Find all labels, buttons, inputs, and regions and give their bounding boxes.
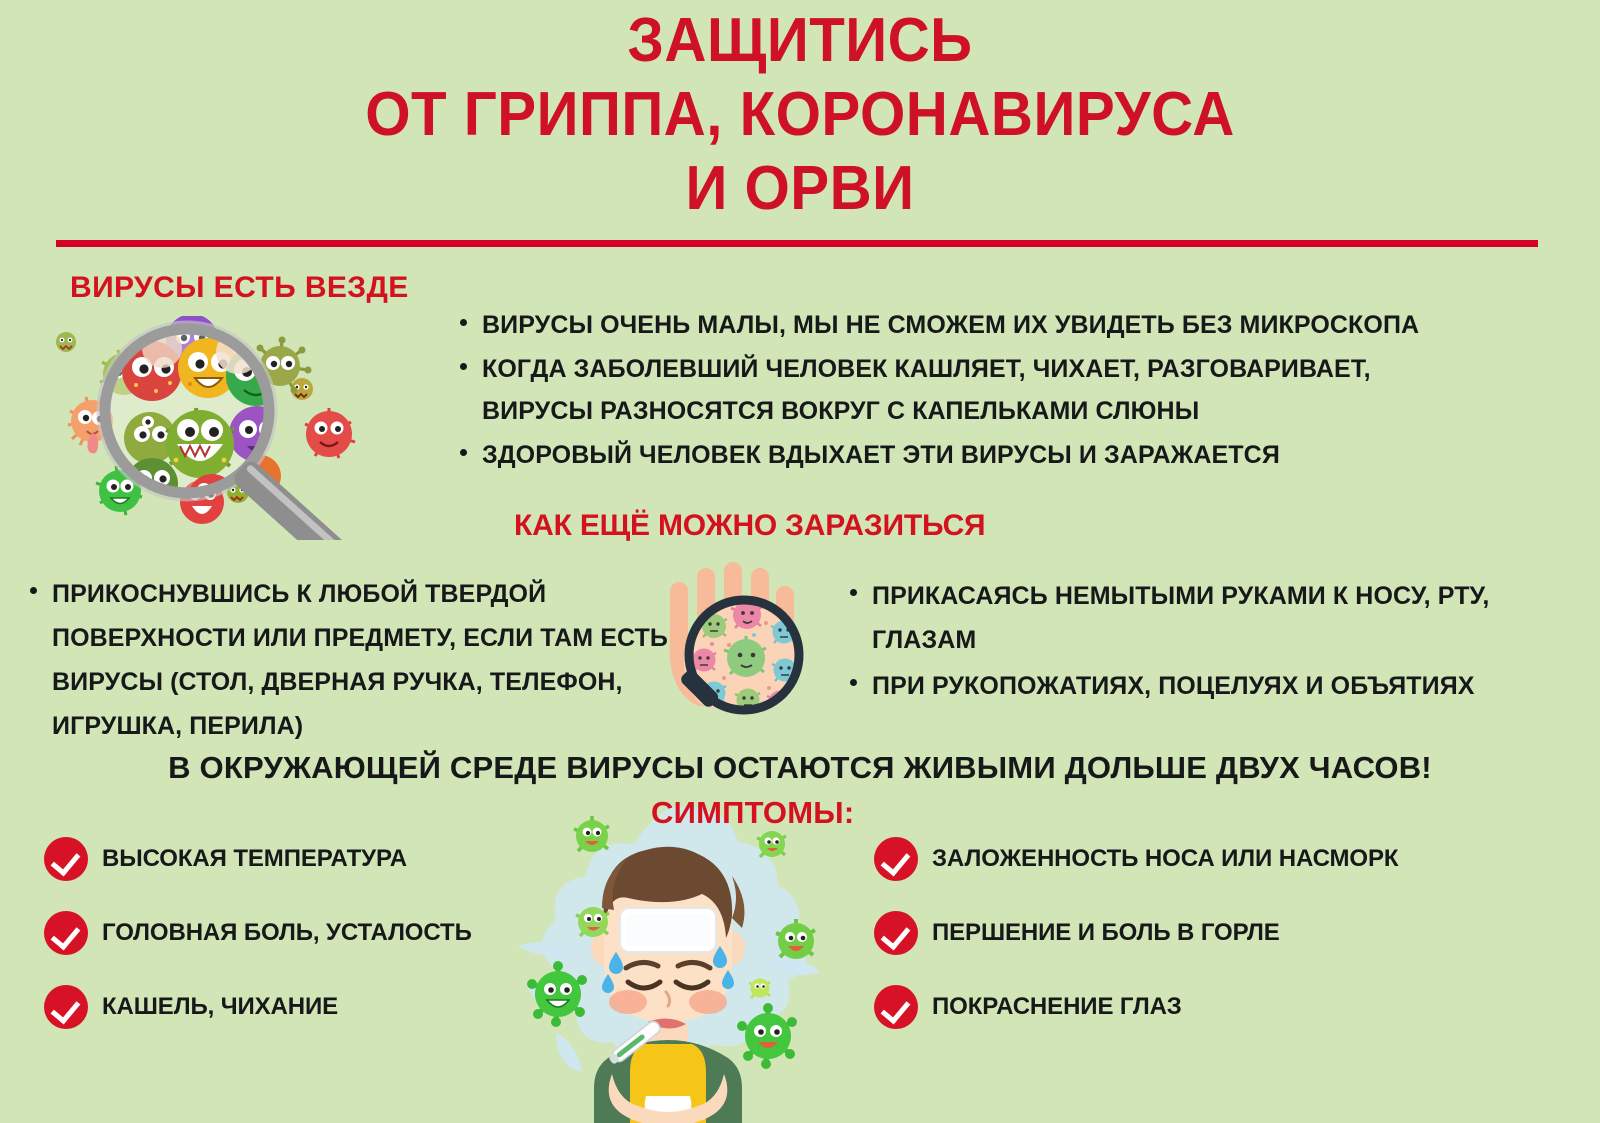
symptom-label: ПЕРШЕНИЕ И БОЛЬ В ГОРЛЕ bbox=[932, 919, 1280, 947]
list-item: ВИРУСЫ ОЧЕНЬ МАЛЫ, МЫ НЕ СМОЖЕМ ИХ УВИДЕ… bbox=[448, 304, 1419, 346]
sick-child-illustration bbox=[496, 796, 840, 1123]
symptom-label: ЗАЛОЖЕННОСТЬ НОСА ИЛИ НАСМОРК bbox=[932, 845, 1398, 873]
symptom-label: ПОКРАСНЕНИЕ ГЛАЗ bbox=[932, 993, 1182, 1021]
title-line-1: ЗАЩИТИСЬ bbox=[48, 4, 1552, 78]
statement-virus-survival: В ОКРУЖАЮЩЕЙ СРЕДЕ ВИРУСЫ ОСТАЮТСЯ ЖИВЫМ… bbox=[0, 750, 1600, 786]
heading-how-else-infected: КАК ЕЩЁ МОЖНО ЗАРАЗИТЬСЯ bbox=[514, 509, 985, 543]
list-item: КАШЕЛЬ, ЧИХАНИЕ bbox=[44, 982, 472, 1032]
poster-root: ЗАЩИТИСЬ ОТ ГРИППА, КОРОНАВИРУСА И ОРВИ … bbox=[0, 0, 1600, 1123]
title-line-3: И ОРВИ bbox=[48, 152, 1552, 226]
list-item: ВЫСОКАЯ ТЕМПЕРАТУРА bbox=[44, 834, 472, 884]
list-item: ПРИКАСАЯСЬ НЕМЫТЫМИ РУКАМИ К НОСУ, РТУ, … bbox=[838, 574, 1489, 662]
list-virus-spread: ВИРУСЫ ОЧЕНЬ МАЛЫ, МЫ НЕ СМОЖЕМ ИХ УВИДЕ… bbox=[448, 304, 1419, 478]
check-icon bbox=[874, 837, 918, 881]
title-line-2: ОТ ГРИППА, КОРОНАВИРУСА bbox=[48, 78, 1552, 152]
heading-viruses-everywhere: ВИРУСЫ ЕСТЬ ВЕЗДЕ bbox=[70, 271, 409, 305]
symptom-label: ВЫСОКАЯ ТЕМПЕРАТУРА bbox=[102, 845, 407, 873]
check-icon bbox=[44, 911, 88, 955]
heading-symptoms: СИМПТОМЫ: bbox=[651, 795, 854, 831]
list-item: ГОЛОВНАЯ БОЛЬ, УСТАЛОСТЬ bbox=[44, 908, 472, 958]
hand-with-germs-illustration bbox=[654, 560, 850, 738]
check-icon bbox=[44, 837, 88, 881]
list-personal-contact: ПРИКАСАЯСЬ НЕМЫТЫМИ РУКАМИ К НОСУ, РТУ, … bbox=[838, 574, 1489, 710]
list-item: ПРИКОСНУВШИСЬ К ЛЮБОЙ ТВЕРДОЙ ПОВЕРХНОСТ… bbox=[18, 572, 668, 748]
list-item: ПРИ РУКОПОЖАТИЯХ, ПОЦЕЛУЯХ И ОБЪЯТИЯХ bbox=[838, 664, 1489, 708]
list-item: ПЕРШЕНИЕ И БОЛЬ В ГОРЛЕ bbox=[874, 908, 1398, 958]
symptom-label: КАШЕЛЬ, ЧИХАНИЕ bbox=[102, 993, 338, 1021]
check-icon bbox=[874, 911, 918, 955]
germ-magnifier-illustration bbox=[42, 316, 414, 540]
list-item: ЗАЛОЖЕННОСТЬ НОСА ИЛИ НАСМОРК bbox=[874, 834, 1398, 884]
check-icon bbox=[874, 985, 918, 1029]
list-item: ЗДОРОВЫЙ ЧЕЛОВЕК ВДЫХАЕТ ЭТИ ВИРУСЫ И ЗА… bbox=[448, 434, 1419, 476]
page-title: ЗАЩИТИСЬ ОТ ГРИППА, КОРОНАВИРУСА И ОРВИ bbox=[0, 4, 1600, 226]
list-item: ПОКРАСНЕНИЕ ГЛАЗ bbox=[874, 982, 1398, 1032]
check-icon bbox=[44, 985, 88, 1029]
list-item: КОГДА ЗАБОЛЕВШИЙ ЧЕЛОВЕК КАШЛЯЕТ, ЧИХАЕТ… bbox=[448, 348, 1419, 432]
symptom-list-right: ЗАЛОЖЕННОСТЬ НОСА ИЛИ НАСМОРК ПЕРШЕНИЕ И… bbox=[874, 834, 1398, 1056]
symptom-label: ГОЛОВНАЯ БОЛЬ, УСТАЛОСТЬ bbox=[102, 919, 472, 947]
list-surface-contact: ПРИКОСНУВШИСЬ К ЛЮБОЙ ТВЕРДОЙ ПОВЕРХНОСТ… bbox=[18, 572, 668, 748]
symptom-list-left: ВЫСОКАЯ ТЕМПЕРАТУРА ГОЛОВНАЯ БОЛЬ, УСТАЛ… bbox=[44, 834, 472, 1056]
title-divider bbox=[56, 240, 1538, 247]
